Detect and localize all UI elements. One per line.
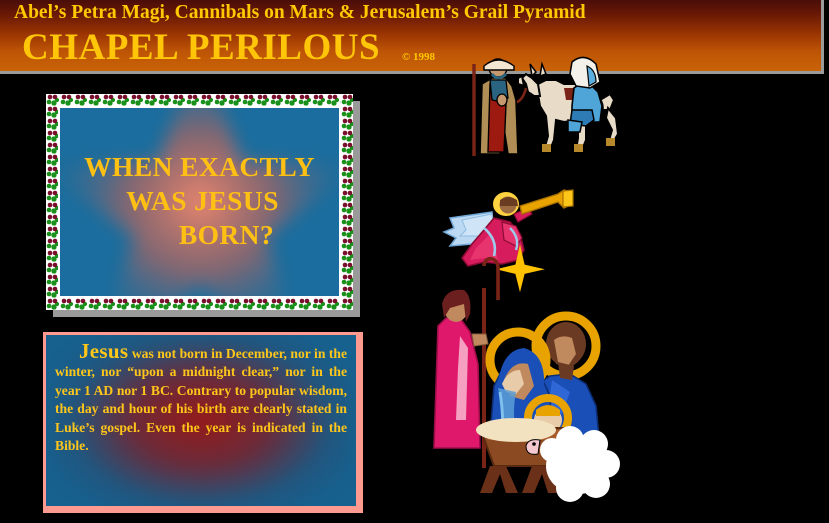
shepherd-figure: [434, 290, 488, 448]
title-card-panel: WHEN EXACTLY WAS JESUS BORN?: [60, 108, 339, 296]
angel-with-trumpet-icon: [432, 188, 576, 300]
header-subtitle: Abel’s Petra Magi, Cannibals on Mars & J…: [14, 2, 586, 24]
holly-border-left: [46, 94, 58, 310]
holly-border-right: [341, 94, 353, 310]
header-banner: Abel’s Petra Magi, Cannibals on Mars & J…: [0, 0, 824, 74]
page-title: CHAPEL PERILOUS: [22, 26, 380, 69]
body-lead-word: Jesus: [79, 339, 128, 363]
body-card: Jesus was not born in December, nor in t…: [43, 332, 363, 513]
title-line-3: BORN?: [60, 218, 339, 252]
holly-border-top: [46, 94, 353, 106]
body-card-text: Jesus was not born in December, nor in t…: [46, 335, 356, 455]
mary-and-joseph-with-donkey-icon: [460, 48, 640, 160]
title-line-1: WHEN EXACTLY: [60, 150, 339, 184]
title-card-text: WHEN EXACTLY WAS JESUS BORN?: [60, 150, 339, 252]
copyright-notice: © 1998: [402, 51, 435, 63]
nativity-scene-icon: [420, 288, 630, 513]
body-card-panel: Jesus was not born in December, nor in t…: [46, 335, 356, 506]
holly-border-bottom: [46, 298, 353, 310]
title-card: WHEN EXACTLY WAS JESUS BORN?: [46, 94, 353, 310]
title-line-2: WAS JESUS: [60, 184, 339, 218]
slide-canvas: Abel’s Petra Magi, Cannibals on Mars & J…: [0, 0, 829, 523]
